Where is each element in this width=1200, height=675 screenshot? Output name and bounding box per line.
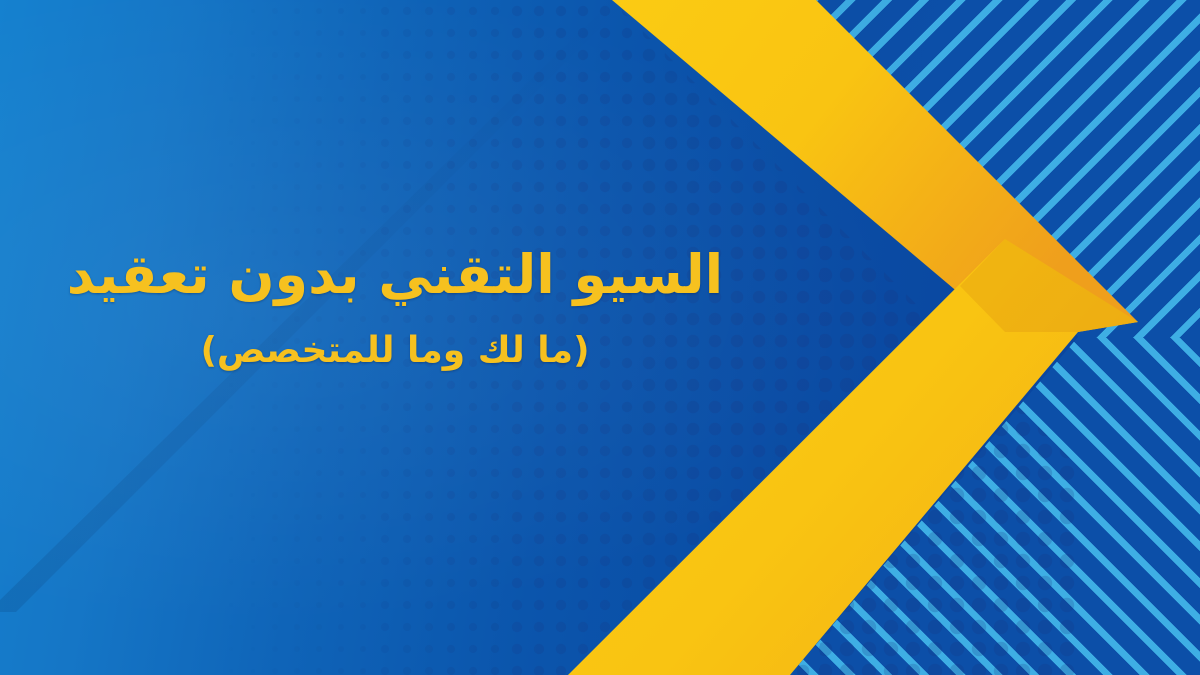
slide-text-block: السيو التقني بدون تعقيد (ما لك وما للمتخ… — [0, 243, 790, 372]
slide-subtitle: (ما لك وما للمتخصص) — [0, 329, 790, 372]
page-title: السيو التقني بدون تعقيد — [0, 243, 790, 307]
title-slide: السيو التقني بدون تعقيد (ما لك وما للمتخ… — [0, 0, 1200, 675]
